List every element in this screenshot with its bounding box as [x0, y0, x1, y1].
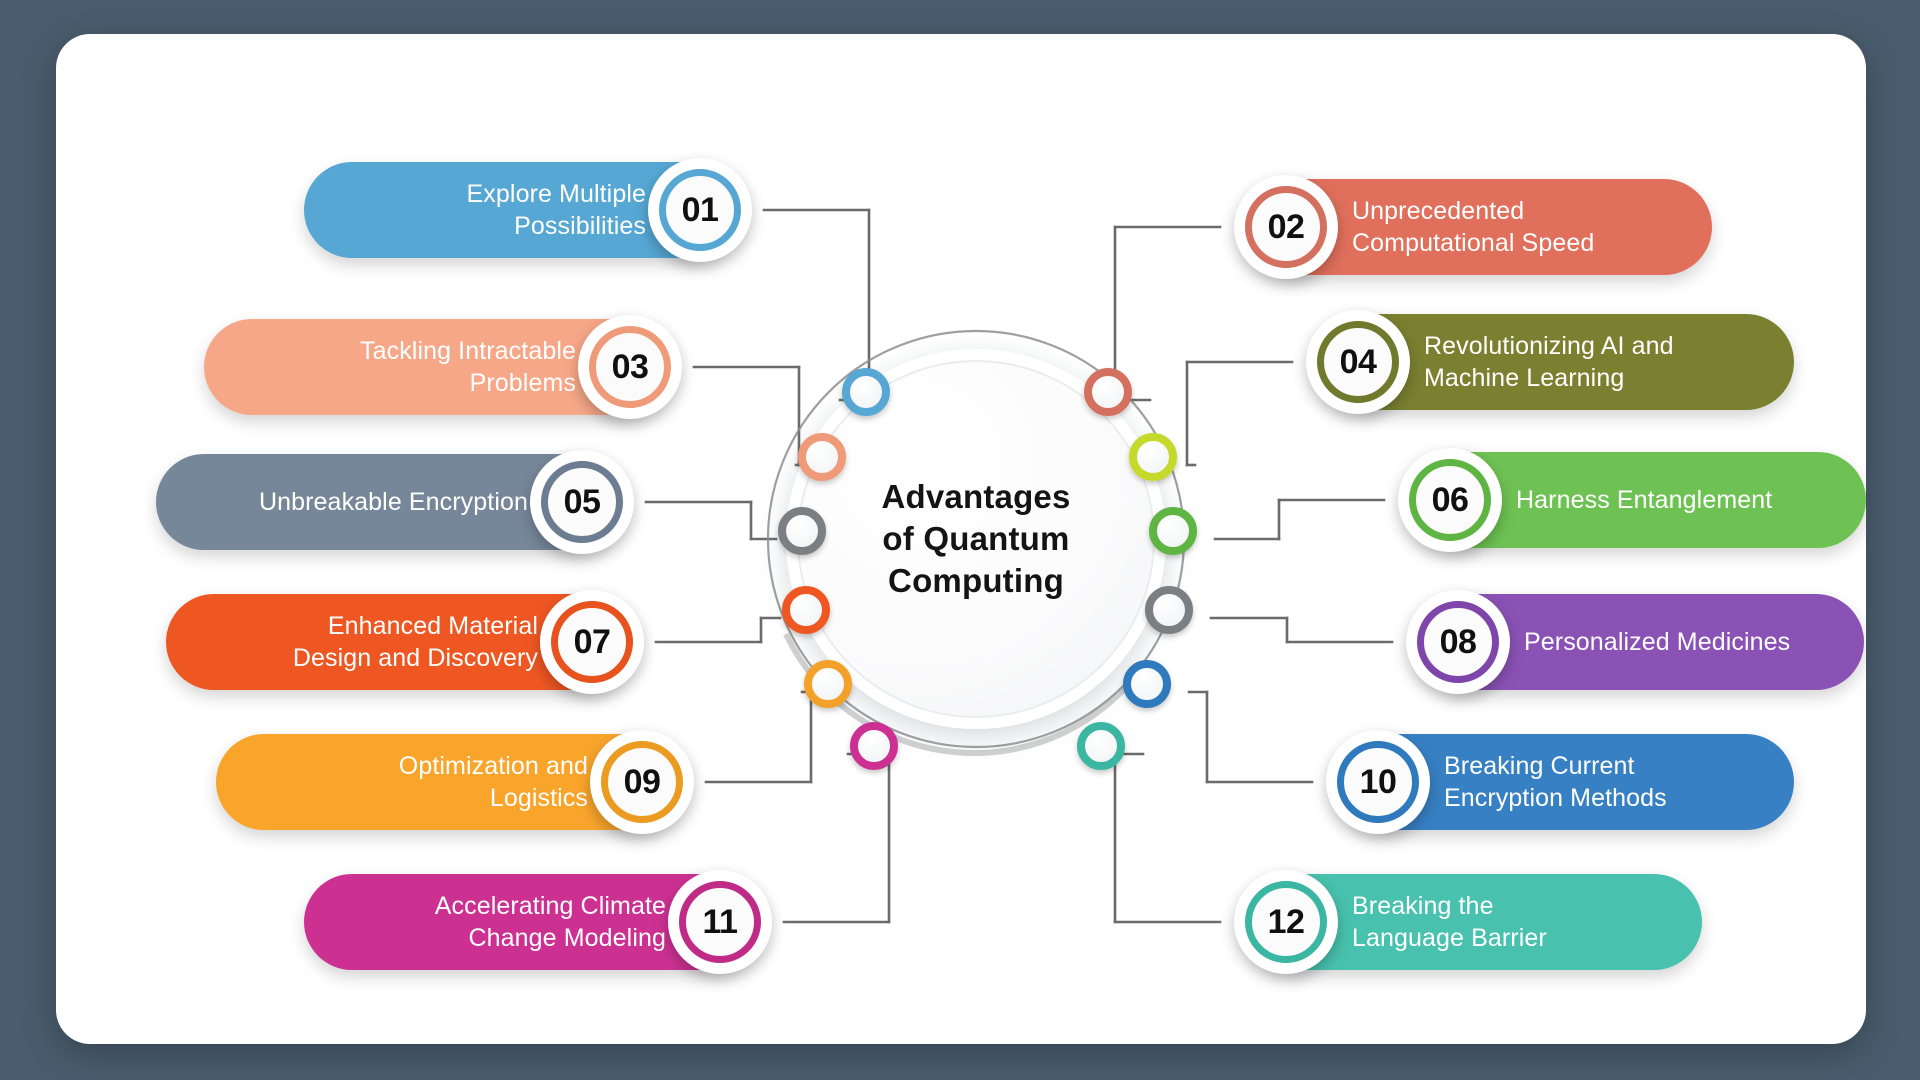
item-label-10: Breaking Current Encryption Methods [1444, 750, 1748, 814]
badge-06[interactable]: 06 [1398, 448, 1502, 552]
badge-02[interactable]: 02 [1234, 175, 1338, 279]
badge-07[interactable]: 07 [540, 590, 644, 694]
badge-12[interactable]: 12 [1234, 870, 1338, 974]
item-label-06: Harness Entanglement [1516, 484, 1820, 516]
badge-number-10: 10 [1360, 765, 1397, 799]
item-label-04: Revolutionizing AI and Machine Learning [1424, 330, 1748, 394]
badge-number-04: 04 [1340, 345, 1377, 379]
item-label-02: Unprecedented Computational Speed [1352, 195, 1666, 259]
badge-08[interactable]: 08 [1406, 590, 1510, 694]
item-12[interactable]: Breaking the Language Barrier12 [56, 874, 1866, 970]
badge-number-06: 06 [1432, 483, 1469, 517]
badge-number-09: 09 [624, 765, 661, 799]
badge-ring-11: 11 [679, 881, 761, 963]
badge-number-12: 12 [1268, 905, 1305, 939]
badge-10[interactable]: 10 [1326, 730, 1430, 834]
item-08[interactable]: Personalized Medicines08 [56, 594, 1866, 690]
item-10[interactable]: Breaking Current Encryption Methods10 [56, 734, 1866, 830]
badge-ring-08: 08 [1417, 601, 1499, 683]
badge-ring-10: 10 [1337, 741, 1419, 823]
item-02[interactable]: Unprecedented Computational Speed02 [56, 179, 1866, 275]
badge-03[interactable]: 03 [578, 315, 682, 419]
badge-number-11: 11 [703, 905, 738, 939]
white-card: Advantages of Quantum Computing Explore … [56, 34, 1866, 1044]
item-label-08: Personalized Medicines [1524, 626, 1818, 658]
badge-number-02: 02 [1268, 210, 1305, 244]
badge-ring-02: 02 [1245, 186, 1327, 268]
badge-number-01: 01 [682, 193, 719, 227]
badge-05[interactable]: 05 [530, 450, 634, 554]
badge-ring-04: 04 [1317, 321, 1399, 403]
item-label-12: Breaking the Language Barrier [1352, 890, 1656, 954]
badge-ring-09: 09 [601, 741, 683, 823]
badge-ring-01: 01 [659, 169, 741, 251]
badge-number-03: 03 [612, 350, 649, 384]
badge-04[interactable]: 04 [1306, 310, 1410, 414]
item-06[interactable]: Harness Entanglement06 [56, 452, 1866, 548]
badge-01[interactable]: 01 [648, 158, 752, 262]
item-04[interactable]: Revolutionizing AI and Machine Learning0… [56, 314, 1866, 410]
badge-11[interactable]: 11 [668, 870, 772, 974]
badge-number-05: 05 [564, 485, 601, 519]
badge-ring-03: 03 [589, 326, 671, 408]
infographic-canvas: Advantages of Quantum Computing Explore … [0, 0, 1920, 1080]
badge-ring-07: 07 [551, 601, 633, 683]
badge-ring-06: 06 [1409, 459, 1491, 541]
badge-number-07: 07 [574, 625, 611, 659]
badge-number-08: 08 [1440, 625, 1477, 659]
badge-ring-05: 05 [541, 461, 623, 543]
badge-ring-12: 12 [1245, 881, 1327, 963]
badge-09[interactable]: 09 [590, 730, 694, 834]
